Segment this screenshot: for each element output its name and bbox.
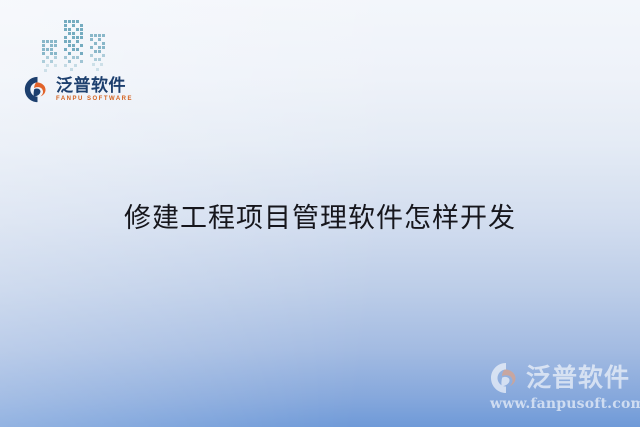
brand-name-cn: 泛普软件: [56, 77, 133, 94]
pixel-skyline-icon: [34, 14, 114, 76]
fanpu-swoosh-icon: [490, 362, 522, 394]
brand-logo-block: 泛普软件 FANPU SOFTWARE: [24, 14, 154, 114]
page-title: 修建工程项目管理软件怎样开发: [0, 196, 640, 235]
watermark-url: www.fanpusoft.com: [490, 396, 635, 412]
watermark-brand-row: 泛普软件: [490, 361, 635, 395]
fanpu-swoosh-icon: [24, 76, 51, 103]
watermark-brand-name: 泛普软件: [526, 366, 630, 391]
slide-canvas: 泛普软件 FANPU SOFTWARE 修建工程项目管理软件怎样开发 泛普软件 …: [0, 0, 640, 427]
brand-name-en: FANPU SOFTWARE: [56, 96, 133, 102]
watermark-logo: 泛普软件 www.fanpusoft.com: [490, 361, 635, 419]
brand-wordmark: 泛普软件 FANPU SOFTWARE: [24, 76, 133, 103]
brand-text-group: 泛普软件 FANPU SOFTWARE: [56, 77, 133, 102]
